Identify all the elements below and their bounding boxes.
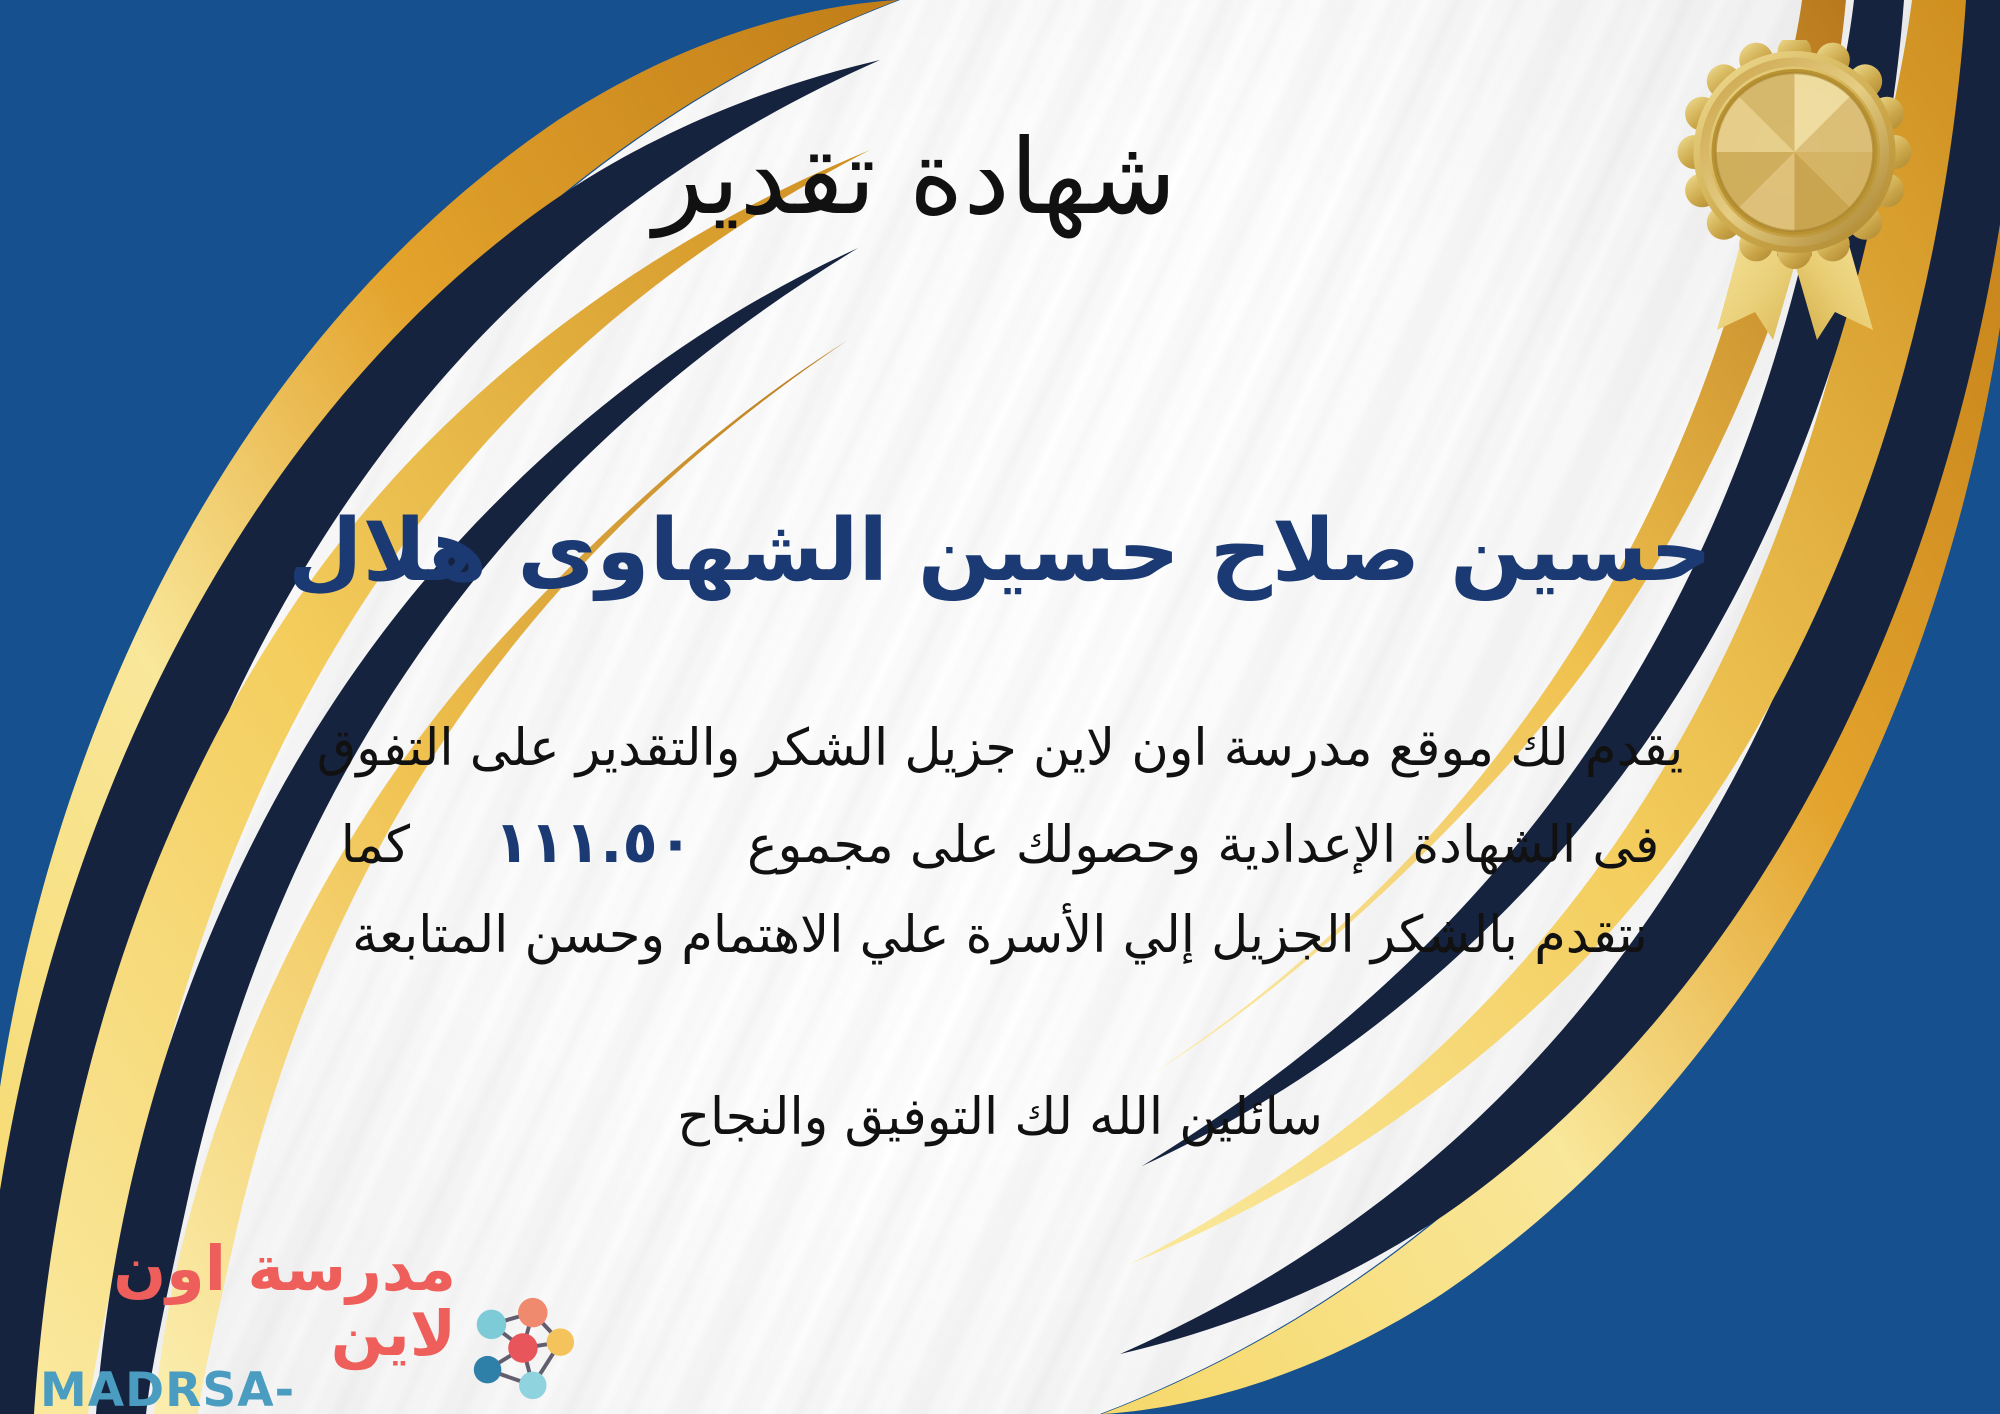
gold-award-medal [1677,40,1912,340]
body-line-2: فى الشهادة الإعدادية وحصولك على مجموع ١١… [110,793,1890,893]
logo-domain: MADRSA-ONLINE.COM [40,1366,456,1414]
site-logo[interactable]: مدرسة اون لاين MADRSA-ONLINE.COM [40,1236,580,1386]
certificate-body: يقدم لك موقع مدرسة اون لاين جزيل الشكر و… [110,705,1890,980]
gold-award-medal-icon [1677,40,1912,340]
closing-wish: سائلين الله لك التوفيق والنجاح [0,1088,2000,1147]
grade-total-value: ١١١.٥٠ [468,793,719,893]
body-line-2-left: كما [341,802,410,890]
network-nodes-icon [462,1291,580,1409]
body-line-2-right: فى الشهادة الإعدادية وحصولك على مجموع [747,802,1659,890]
logo-row: مدرسة اون لاين MADRSA-ONLINE.COM [40,1236,580,1414]
logo-arabic-name: مدرسة اون لاين [40,1236,456,1366]
logo-text: مدرسة اون لاين MADRSA-ONLINE.COM [40,1236,456,1414]
certificate-canvas: شهادة تقدير حسين صلاح حسين الشهاوى هلال … [0,0,2000,1414]
body-line-3: نتقدم بالشكر الجزيل إلي الأسرة علي الاهت… [110,892,1890,980]
body-line-1: يقدم لك موقع مدرسة اون لاين جزيل الشكر و… [110,705,1890,793]
student-name: حسين صلاح حسين الشهاوى هلال [0,500,2000,603]
